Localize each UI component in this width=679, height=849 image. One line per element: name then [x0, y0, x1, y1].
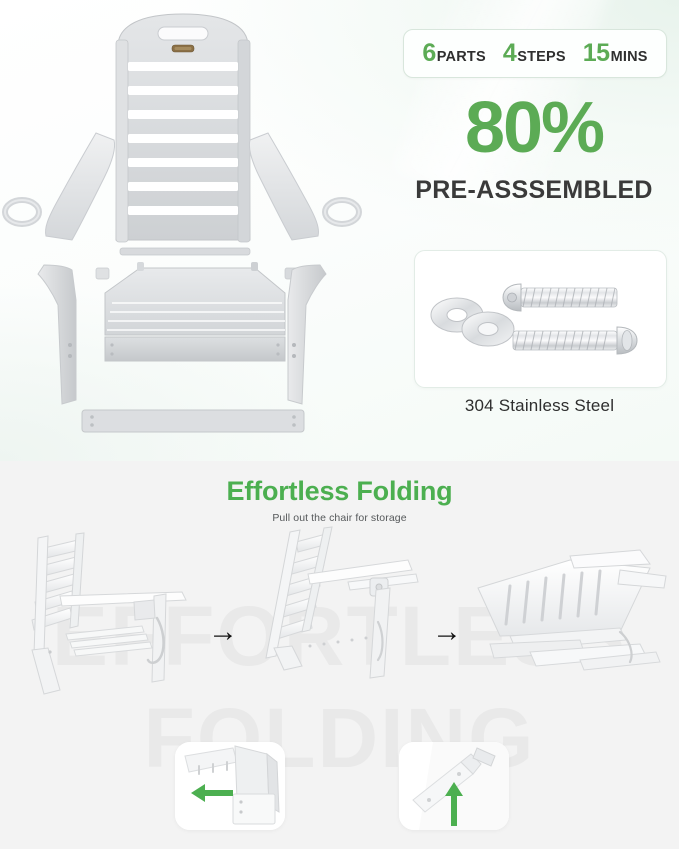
badge-item-parts: 6 PARTS [422, 39, 485, 68]
hardware-caption: 304 Stainless Steel [404, 396, 675, 416]
badge-item-steps: 4 STEPS [503, 39, 566, 68]
badge-label-mins: MINS [611, 49, 648, 65]
pre-assembled-caption: PRE-ASSSEMBLED [393, 176, 675, 205]
cross-brace-bar [82, 410, 304, 432]
callout-lift-brace [399, 742, 509, 830]
washer-front [462, 312, 514, 346]
badge-label-parts: PARTS [437, 49, 486, 65]
badge-label-steps: STEPS [517, 49, 566, 65]
fold-step-3-folded-flat [470, 540, 670, 690]
leg-right [288, 265, 326, 404]
hardware-card [414, 250, 667, 388]
exploded-parts-illustration [0, 0, 400, 461]
leg-left [38, 265, 76, 404]
seat-assembly [105, 262, 285, 361]
badge-number-parts: 6 [422, 39, 435, 68]
armrest-right [249, 133, 359, 240]
armrest-left [5, 133, 115, 240]
callout-pull-out-bracket [175, 742, 285, 830]
bolt-upper [503, 284, 617, 311]
folding-section-subtitle: Pull out the chair for storage [0, 512, 679, 524]
badge-number-steps: 4 [503, 39, 516, 68]
backrest-panel [116, 14, 250, 242]
step-arrow-2: → [432, 617, 462, 647]
step-arrow-1: → [208, 617, 238, 647]
fold-step-1-chair-open [14, 530, 204, 700]
bolt-lower [513, 327, 637, 354]
badge-item-mins: 15 MINS [583, 39, 648, 68]
fold-step-2-partially-folded [248, 526, 433, 701]
badge-number-mins: 15 [583, 39, 610, 68]
upper-brace-bar [120, 248, 250, 255]
spec-badge: 6 PARTS 4 STEPS 15 MINS [403, 29, 667, 78]
folding-section-title: Effortless Folding [0, 476, 679, 507]
product-infographic: 6 PARTS 4 STEPS 15 MINS 80% PRE-ASSSEMBL… [0, 0, 679, 849]
pre-assembled-percent: 80% [403, 92, 665, 164]
